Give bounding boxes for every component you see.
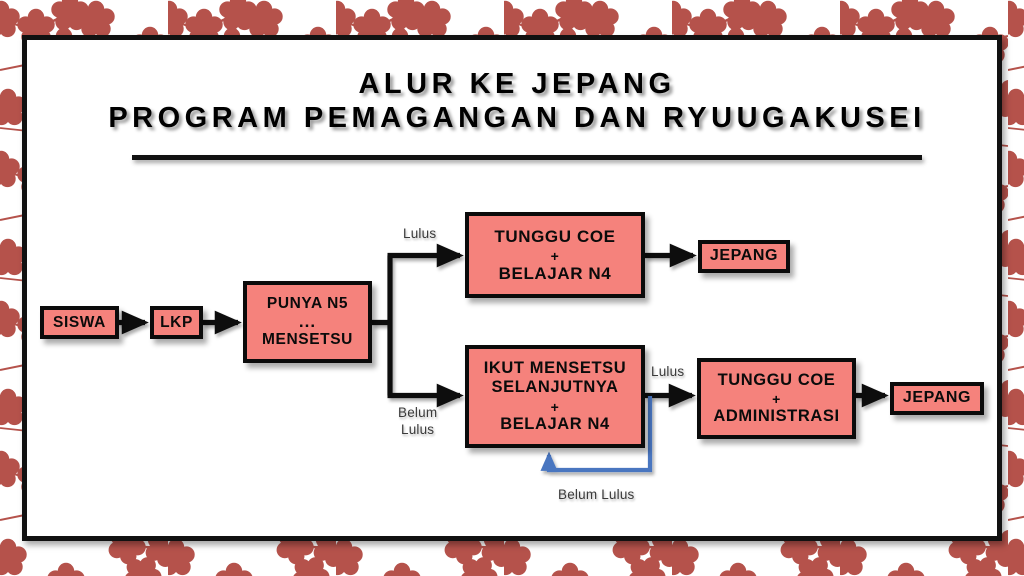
node-jepang-bottom-line-1: JEPANG [903,389,971,408]
node-tunggu2-plus: + [772,392,781,406]
node-punya-line-3: MENSETSU [262,331,353,349]
node-tunggu1-plus: + [551,249,560,263]
edge-label-belum-lulus-line-1: Belum [398,405,437,422]
node-lkp[interactable]: LKP [150,306,203,339]
node-punya-separator-dots: ... [299,314,316,329]
node-tunggu2-line-3: ADMINISTRASI [713,407,839,426]
node-ikut-plus: + [551,400,560,414]
node-siswa-line-1: SISWA [53,314,106,332]
node-ikut-mensetsu-selanjutnya[interactable]: IKUT MENSETSU SELANJUTNYA + BELAJAR N4 [465,345,645,448]
node-jepang-bottom[interactable]: JEPANG [890,382,984,415]
node-tunggu1-line-1: TUNGGU COE [494,227,615,247]
edge-label-lulus-middle: Lulus [651,364,684,381]
node-jepang-top[interactable]: JEPANG [698,240,790,273]
node-tunggu2-line-1: TUNGGU COE [718,371,836,390]
node-ikut-line-2: SELANJUTNYA [491,378,618,397]
node-punya-n5-mensetsu[interactable]: PUNYA N5 ... MENSETSU [243,281,372,363]
edge-label-belum-lulus: Belum Lulus [398,405,437,439]
edge-label-lulus-top: Lulus [403,226,436,243]
node-ikut-line-1: IKUT MENSETSU [484,359,627,378]
slide-canvas: ALUR KE JEPANG PROGRAM PEMAGANGAN DAN RY… [0,0,1024,576]
node-jepang-top-line-1: JEPANG [710,247,778,266]
node-tunggu-coe-belajar-n4[interactable]: TUNGGU COE + BELAJAR N4 [465,212,645,298]
edge-label-belum-lulus-line-2: Lulus [398,422,437,439]
node-tunggu1-line-3: BELAJAR N4 [499,264,612,284]
node-punya-line-1: PUNYA N5 [267,295,348,313]
flowchart: SISWA LKP PUNYA N5 ... MENSETSU TUNGGU C… [0,0,1024,576]
edge-label-belum-lulus-feedback: Belum Lulus [558,487,635,504]
node-siswa[interactable]: SISWA [40,306,119,339]
node-lkp-line-1: LKP [160,314,193,332]
node-tunggu-coe-administrasi[interactable]: TUNGGU COE + ADMINISTRASI [697,358,856,439]
node-ikut-line-4: BELAJAR N4 [500,415,610,434]
